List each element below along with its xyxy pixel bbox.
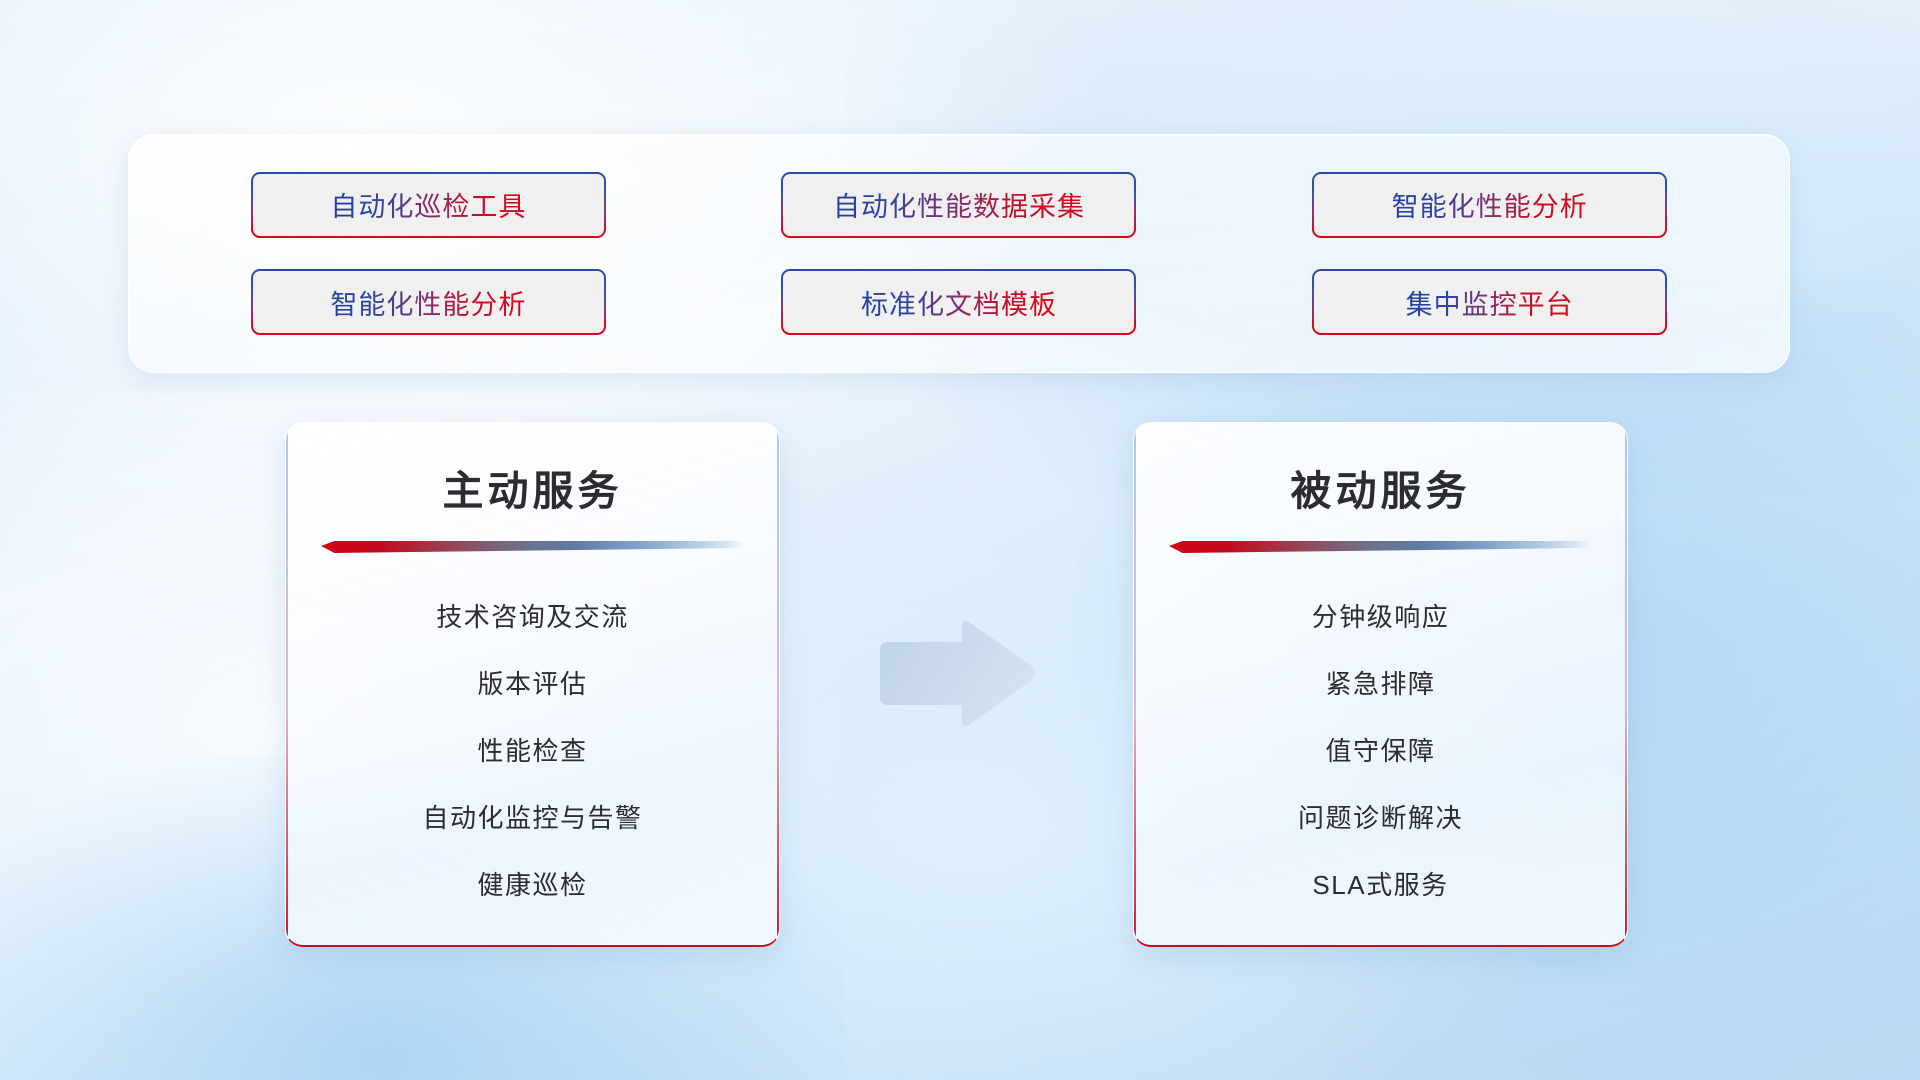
list-item: 自动化监控与告警 [422, 798, 642, 835]
service-card-passive: 被动服务 分钟级响应 紧急排障 值守保障 问题诊断解决 SLA式服务 [1133, 422, 1628, 947]
list-item: 分钟级响应 [1312, 597, 1450, 634]
capability-tag-1[interactable]: 自动化巡检工具 [251, 172, 606, 238]
arrow-right-icon [874, 616, 1038, 732]
capability-tag-label: 集中监控平台 [1406, 283, 1574, 322]
service-card-title: 主动服务 [286, 457, 779, 517]
capability-tag-2[interactable]: 自动化性能数据采集 [781, 172, 1136, 238]
list-item: 值守保障 [1325, 731, 1435, 768]
capabilities-panel: 自动化巡检工具 自动化性能数据采集 智能化性能分析 智能化性能分析 标准化文档模… [128, 134, 1790, 373]
list-item: 问题诊断解决 [1298, 798, 1463, 835]
card-title-divider [321, 541, 744, 553]
service-card-active: 主动服务 技术咨询及交流 版本评估 性能检查 自动化监控与告警 健康巡检 [285, 422, 780, 947]
list-item: 健康巡检 [477, 865, 587, 902]
service-card-title: 被动服务 [1134, 457, 1627, 517]
list-item: 技术咨询及交流 [436, 597, 629, 634]
capability-tag-label: 智能化性能分析 [1392, 185, 1588, 224]
capability-tag-label: 自动化性能数据采集 [833, 185, 1085, 224]
list-item: 紧急排障 [1325, 664, 1435, 701]
capability-tag-label: 智能化性能分析 [330, 283, 526, 322]
capability-tag-5[interactable]: 标准化文档模板 [781, 269, 1136, 335]
list-item: SLA式服务 [1312, 865, 1448, 902]
service-item-list: 分钟级响应 紧急排障 值守保障 问题诊断解决 SLA式服务 [1134, 597, 1627, 902]
card-title-divider [1169, 541, 1592, 553]
capability-tag-4[interactable]: 智能化性能分析 [251, 269, 606, 335]
capability-tag-label: 标准化文档模板 [861, 283, 1057, 322]
list-item: 版本评估 [477, 664, 587, 701]
capability-tag-label: 自动化巡检工具 [330, 185, 526, 224]
service-item-list: 技术咨询及交流 版本评估 性能检查 自动化监控与告警 健康巡检 [286, 597, 779, 902]
list-item: 性能检查 [477, 731, 587, 768]
capability-tag-3[interactable]: 智能化性能分析 [1312, 172, 1667, 238]
capability-tag-6[interactable]: 集中监控平台 [1312, 269, 1667, 335]
